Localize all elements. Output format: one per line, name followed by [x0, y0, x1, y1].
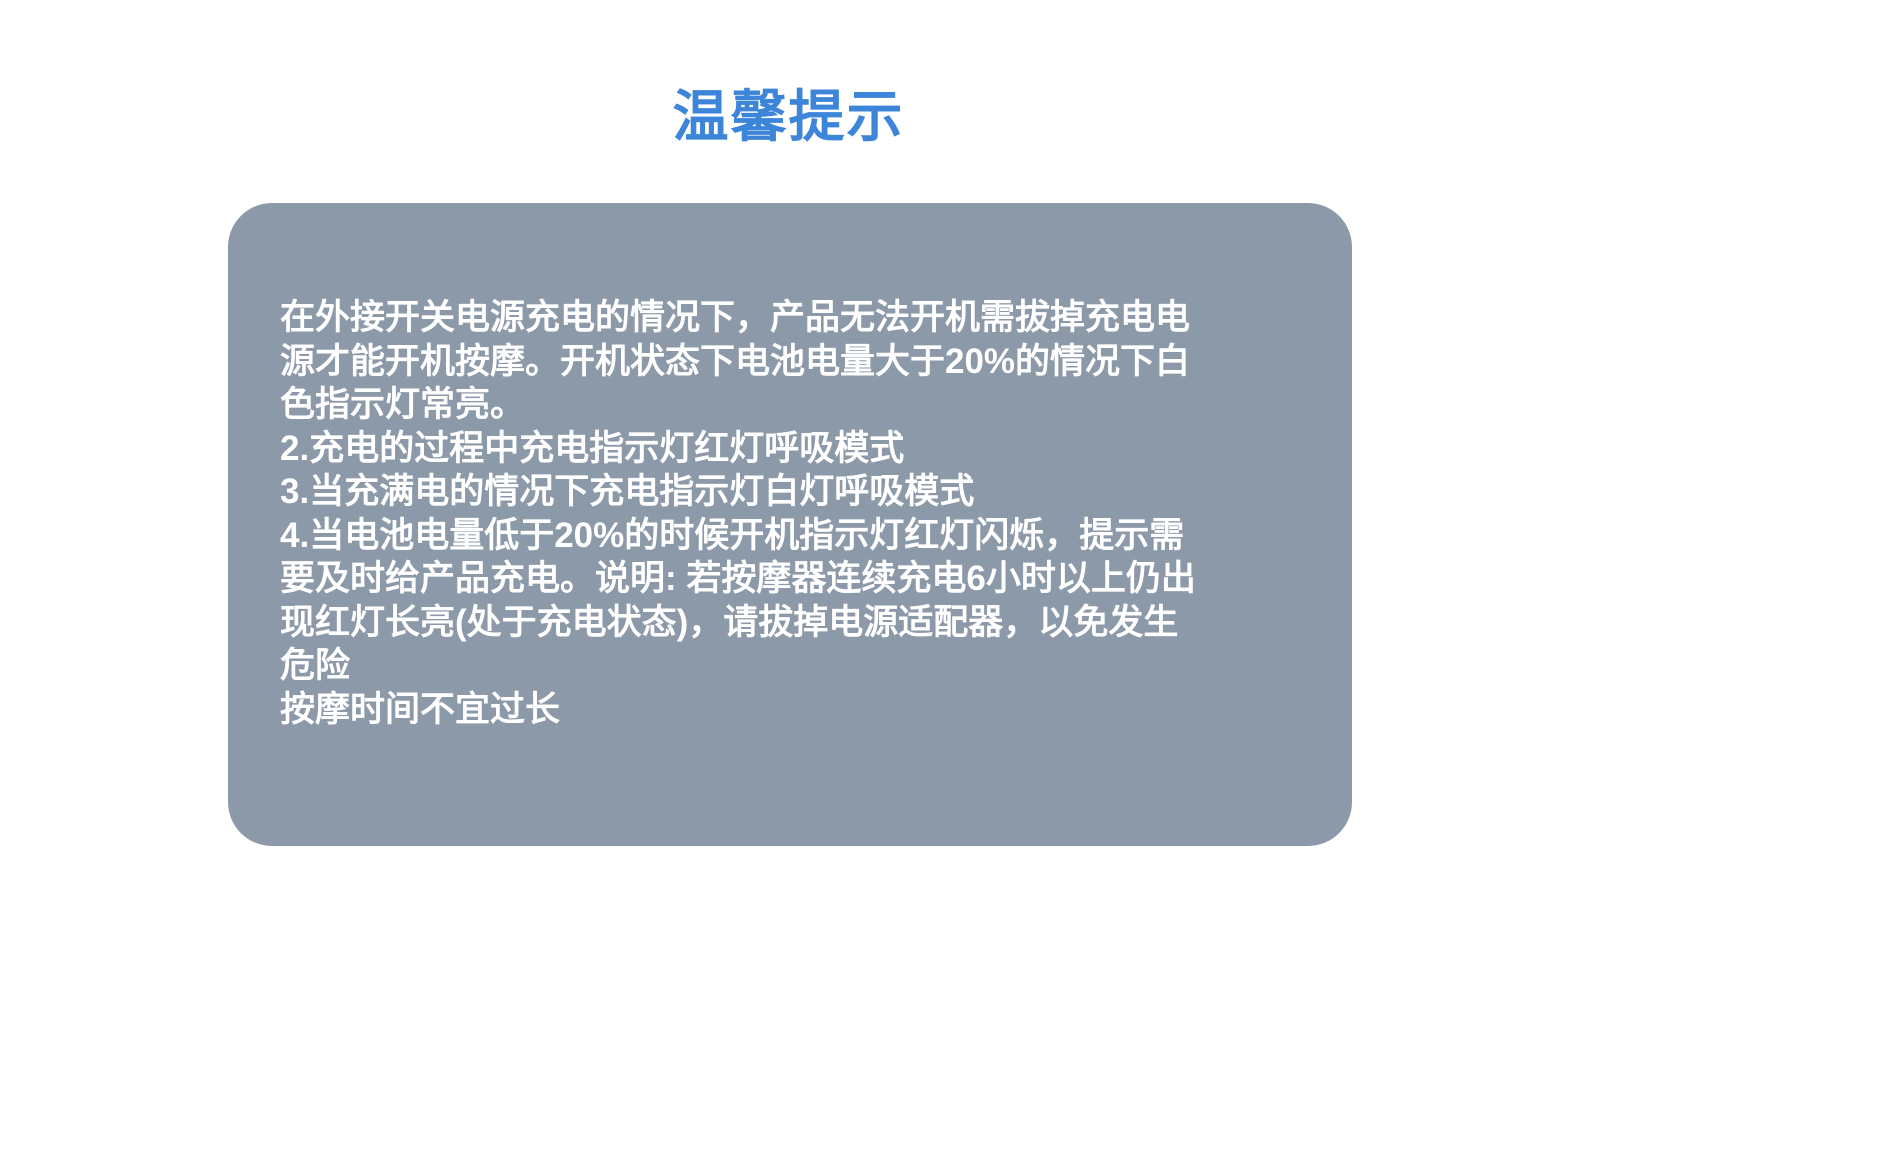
- page-title: 温馨提示: [0, 86, 1577, 148]
- notice-line: 现红灯长亮(处于充电状态)，请拔掉电源适配器，以免发生: [280, 601, 1310, 645]
- notice-page: 温馨提示 在外接开关电源充电的情况下，产品无法开机需拔掉充电电 源才能开机按摩。…: [0, 0, 1890, 1153]
- notice-line: 色指示灯常亮。: [280, 383, 1310, 427]
- notice-line: 按摩时间不宜过长: [280, 688, 1310, 732]
- notice-line: 3.当充满电的情况下充电指示灯白灯呼吸模式: [280, 470, 1310, 514]
- notice-card: 在外接开关电源充电的情况下，产品无法开机需拔掉充电电 源才能开机按摩。开机状态下…: [228, 203, 1352, 846]
- notice-line: 4.当电池电量低于20%的时候开机指示灯红灯闪烁，提示需: [280, 514, 1310, 558]
- notice-line: 2.充电的过程中充电指示灯红灯呼吸模式: [280, 427, 1310, 471]
- notice-line: 在外接开关电源充电的情况下，产品无法开机需拔掉充电电: [280, 296, 1310, 340]
- notice-text-block: 在外接开关电源充电的情况下，产品无法开机需拔掉充电电 源才能开机按摩。开机状态下…: [280, 296, 1310, 731]
- notice-line: 要及时给产品充电。说明: 若按摩器连续充电6小时以上仍出: [280, 557, 1310, 601]
- notice-line: 危险: [280, 644, 1310, 688]
- notice-line: 源才能开机按摩。开机状态下电池电量大于20%的情况下白: [280, 340, 1310, 384]
